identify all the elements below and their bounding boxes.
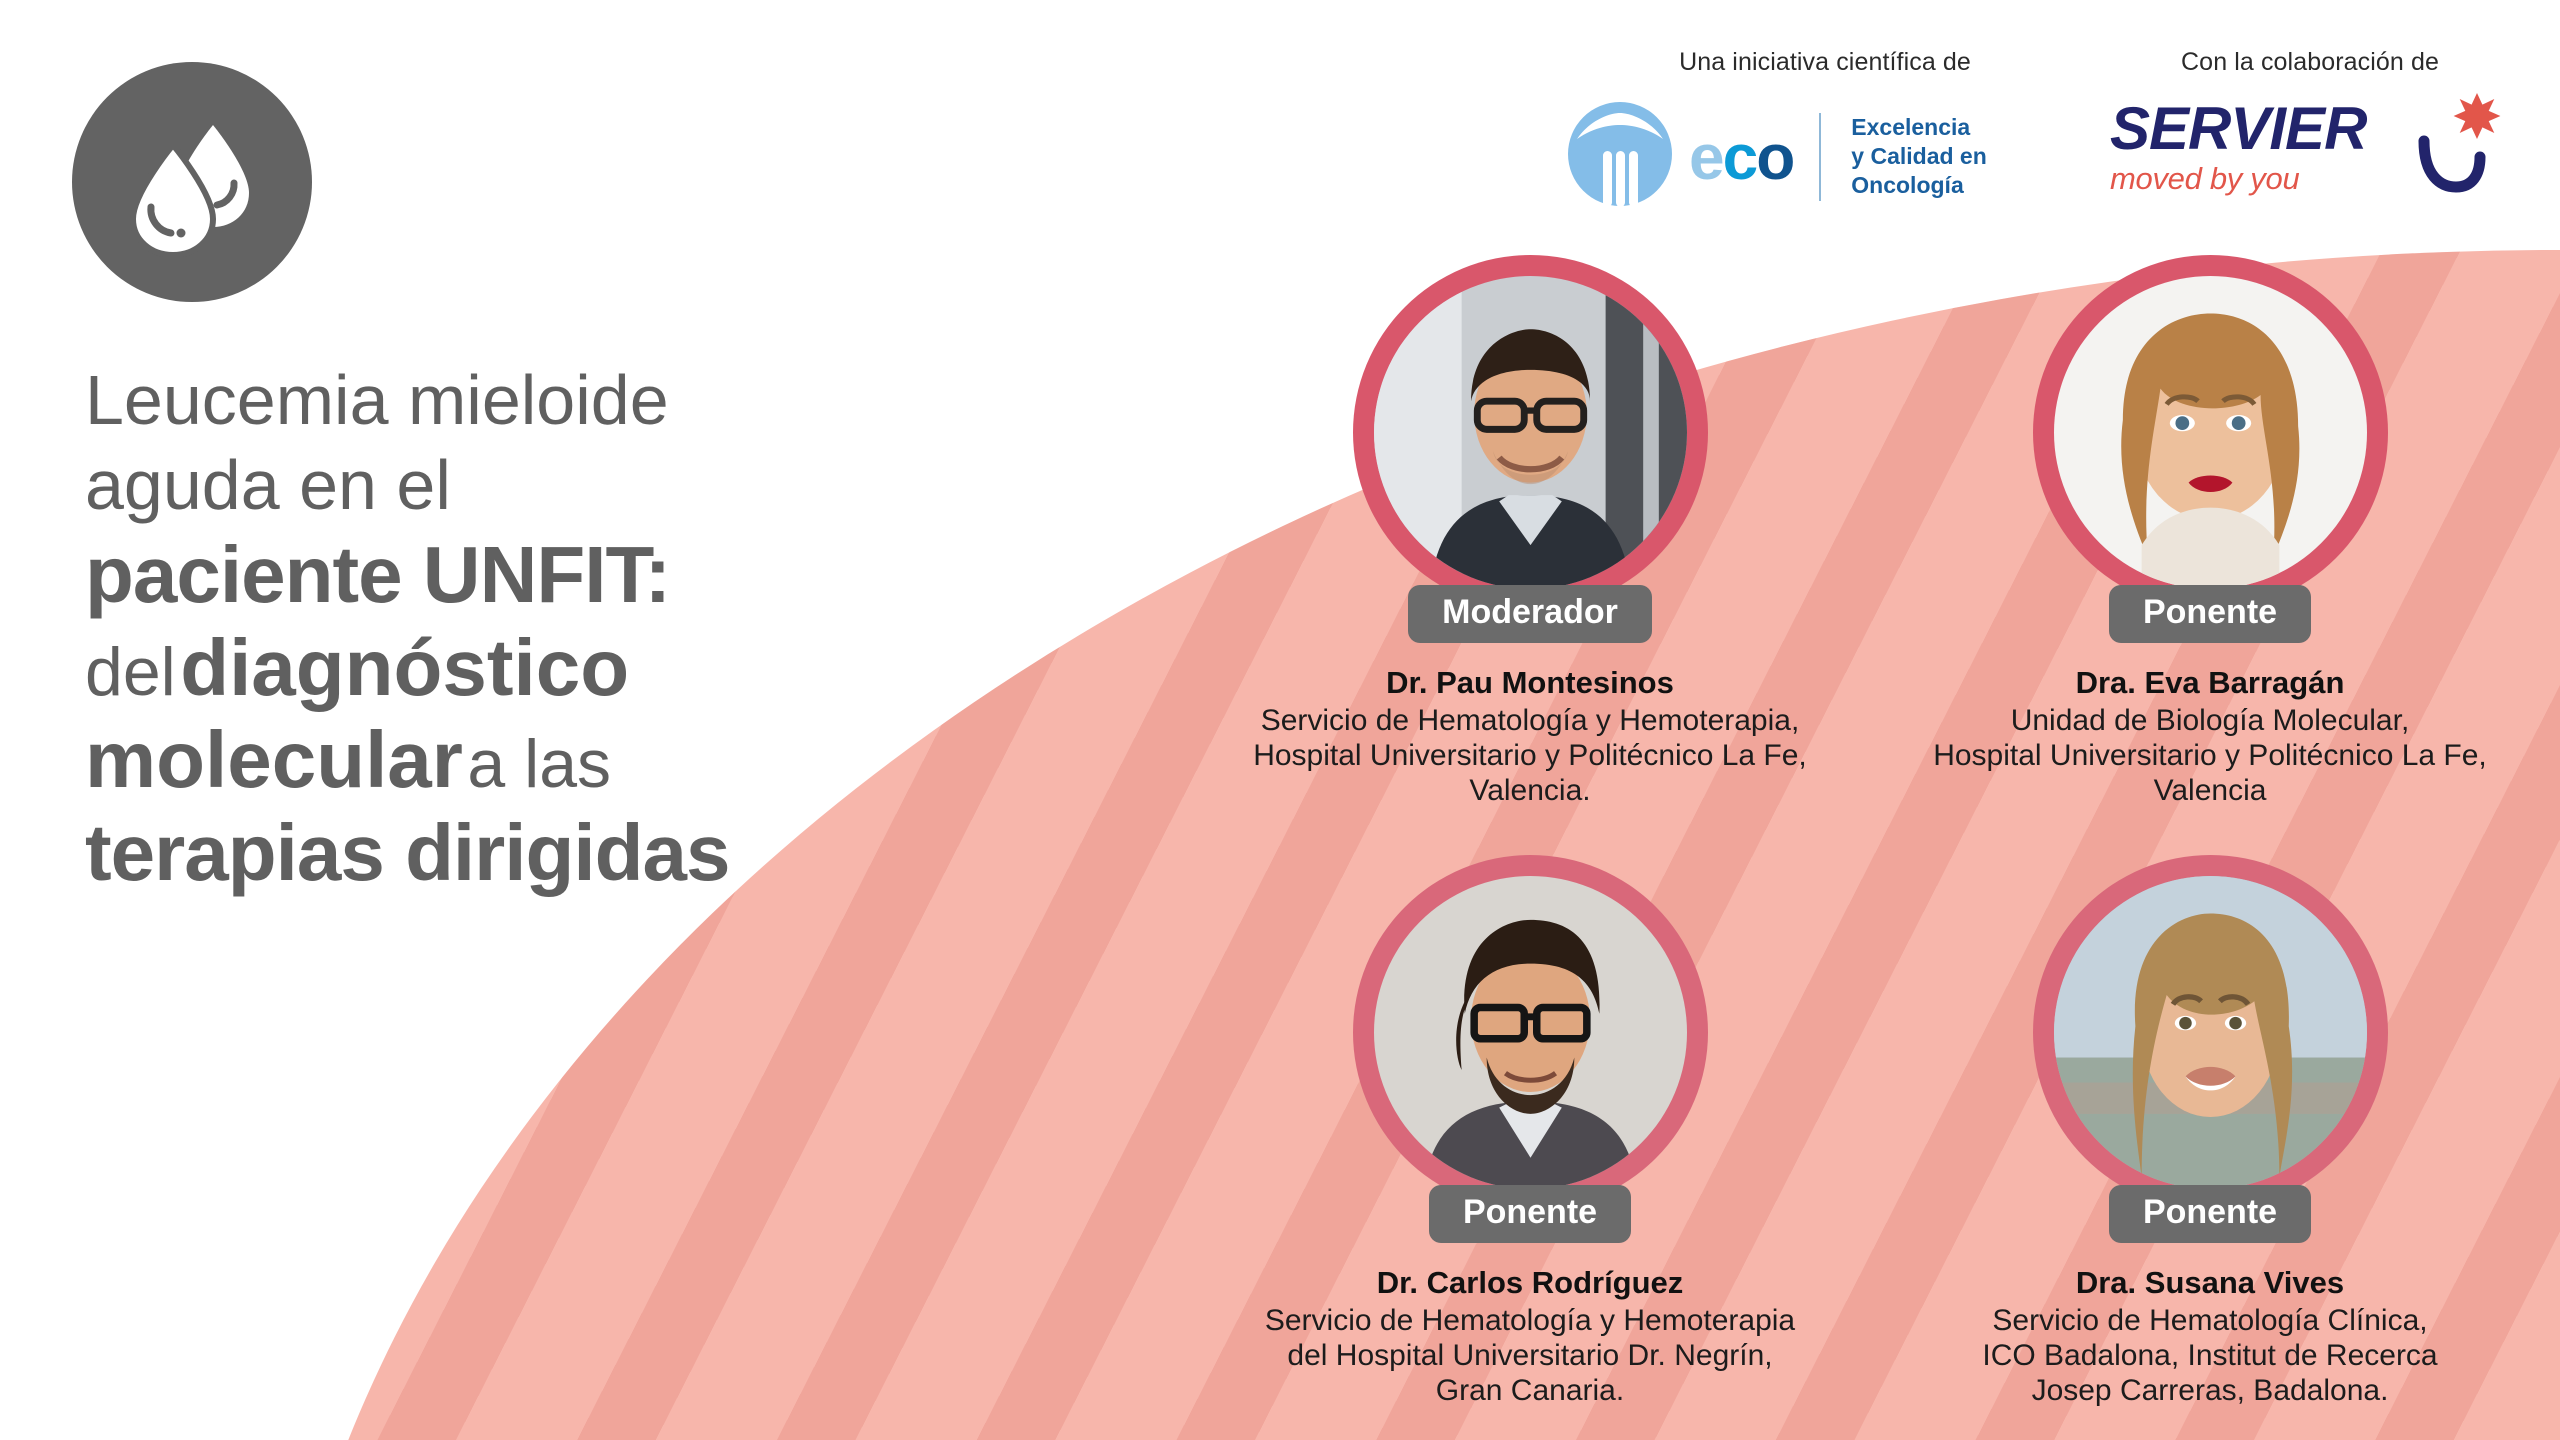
page-title: Leucemia mieloide aguda en el paciente U… [85,358,1205,900]
speaker-affiliation: Servicio de Hematología y Hemoterapia de… [1225,1304,1835,1408]
speaker-name: Dra. Eva Barragán [1905,665,2515,701]
poster-canvas: Leucemia mieloide aguda en el paciente U… [0,0,2560,1440]
status-badge: Ponente [2109,585,2311,643]
title-line-5: molecular a las [85,714,1205,807]
speaker-photo-susana-vives [2054,876,2367,1189]
speaker-card: Ponente Dra. Susana Vives Servicio de He… [1905,855,2515,1408]
blood-drops-icon [72,62,312,302]
status-badge: Moderador [1408,585,1652,643]
eco-tagline-line-1: Excelencia [1851,113,1986,142]
title-line-4-thin: del [85,634,176,710]
eco-tagline: Excelencia y Calidad en Oncología [1851,113,1986,199]
servier-sponsor-block: Con la colaboración de SERVIER moved by … [2110,48,2510,207]
speaker-photo-eva-barragan [2054,276,2367,589]
speaker-photo-carlos-rodriguez [1374,876,1687,1189]
title-line-4-bold: diagnóstico [180,623,629,712]
eco-label: Una iniciativa científica de [1565,48,2085,77]
eco-sponsor-block: Una iniciativa científica de eco Excelen… [1565,48,2085,214]
photo-ring [1353,255,1708,610]
eco-tagline-line-2: y Calidad en [1851,142,1986,171]
status-badge: Ponente [2109,1185,2311,1243]
eco-tagline-line-3: Oncología [1851,171,1986,200]
speaker-card: Ponente Dr. Carlos Rodríguez Servicio de… [1225,855,1835,1408]
title-line-5-bold: molecular [85,715,463,804]
speaker-affiliation: Servicio de Hematología Clínica, ICO Bad… [1905,1304,2515,1408]
speaker-name: Dr. Carlos Rodríguez [1225,1265,1835,1301]
speaker-name: Dra. Susana Vives [1905,1265,2515,1301]
star-burst-icon [2450,93,2504,152]
eco-divider [1819,113,1821,201]
photo-ring [1353,855,1708,1210]
speaker-affiliation: Unidad de Biología Molecular, Hospital U… [1905,704,2515,808]
title-line-5-thin: a las [467,726,611,802]
status-badge: Ponente [1429,1185,1631,1243]
title-line-1: Leucemia mieloide [85,358,1205,443]
speaker-affiliation: Servicio de Hematología y Hemoterapia, H… [1225,704,1835,808]
speaker-card: Ponente Dra. Eva Barragán Unidad de Biol… [1905,255,2515,808]
eco-wordmark: eco [1689,125,1793,189]
photo-ring [2033,255,2388,610]
eco-letter-e: e [1689,121,1723,193]
speaker-name: Dr. Pau Montesinos [1225,665,1835,701]
speaker-photo-pau-montesinos [1374,276,1687,589]
eco-fountain-icon [1565,99,1675,214]
servier-label: Con la colaboración de [2110,48,2510,77]
eco-letter-c: c [1723,121,1757,193]
title-line-2: aguda en el [85,443,1205,528]
speaker-card: Moderador Dr. Pau Montesinos Servicio de… [1225,255,1835,808]
photo-ring [2033,855,2388,1210]
title-line-3: paciente UNFIT: [85,529,1205,622]
eco-letter-o: o [1756,121,1793,193]
title-line-4: del diagnóstico [85,622,1205,715]
title-line-6: terapias dirigidas [85,807,1205,900]
